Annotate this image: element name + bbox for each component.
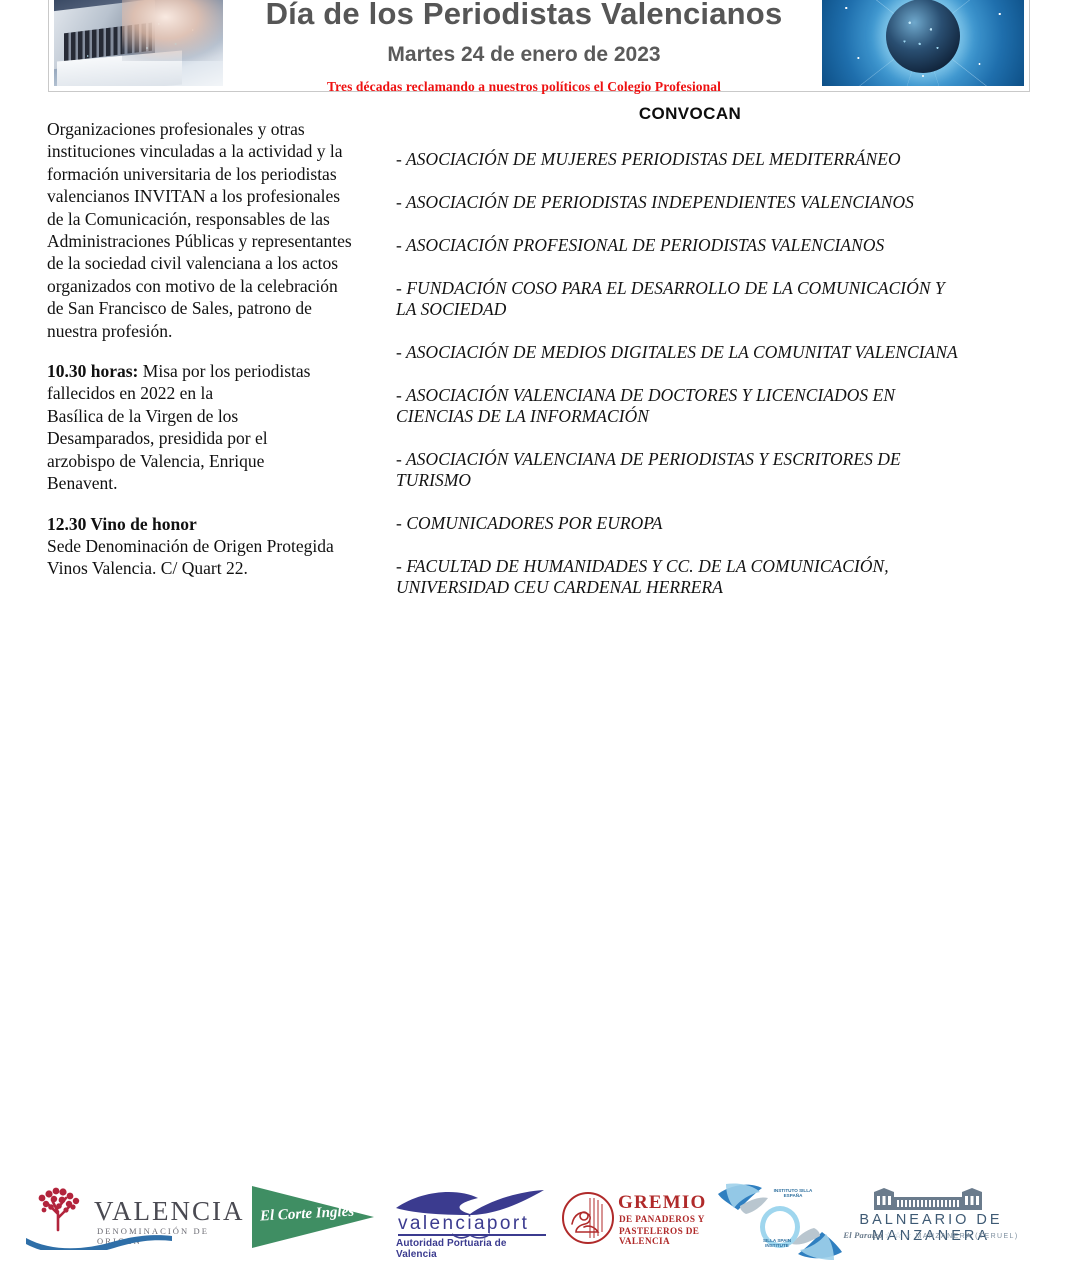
organization-line-2: CIENCIAS DE LA INFORMACIÓN [396,406,1028,427]
organization-line-2: TURISMO [396,470,1028,491]
organization-line-1: - ASOCIACIÓN PROFESIONAL DE PERIODISTAS … [396,235,884,255]
logo-gremio-subtitle-1: DE PANADEROS Y [619,1214,705,1224]
network-dots-overlay [54,0,223,86]
logo-gremio: GREMIO DE PANADEROS Y PASTELEROS DE VALE… [562,1190,724,1248]
organization-item: - ASOCIACIÓN VALENCIANA DE PERIODISTAS Y… [396,449,1028,491]
organization-line-1: - FACULTAD DE HUMANIDADES Y CC. DE LA CO… [396,556,889,576]
organization-line-1: - FUNDACIÓN COSO PARA EL DESARROLLO DE L… [396,278,945,298]
organization-item: - ASOCIACIÓN DE MEDIOS DIGITALES DE LA C… [396,342,1028,363]
event-mass-line2: Basílica de la Virgen de los [47,406,238,426]
event-wine-line2: Vinos Valencia. C/ Quart 22. [47,558,248,578]
baker-seal-icon [562,1192,614,1244]
logo-balneario-subtitle: El Paraíso ☆☆☆ MANZANERA (TERUEL) [812,1230,1050,1241]
globe-network-photo [822,0,1024,86]
organization-item: - COMUNICADORES POR EUROPA [396,513,1028,534]
logo-valenciaport-subtitle: Autoridad Portuaria de Valencia [396,1238,550,1260]
event-mass-line3: Desamparados, presidida por el [47,428,268,448]
spa-building-icon [874,1188,982,1210]
organization-line-1: - ASOCIACIÓN DE PERIODISTAS INDEPENDIENT… [396,192,914,212]
blue-wave-icon [24,1230,174,1250]
organization-line-1: - COMUNICADORES POR EUROPA [396,513,662,533]
organization-line-2: LA SOCIEDAD [396,299,1028,320]
logo-el-corte-ingles: El Corte Inglés [252,1186,374,1248]
organization-line-1: - ASOCIACIÓN DE MUJERES PERIODISTAS DEL … [396,149,901,169]
organization-line-1: - ASOCIACIÓN VALENCIANA DE DOCTORES Y LI… [396,385,895,405]
convocan-heading: CONVOCAN [380,104,1028,124]
sponsor-logo-strip: VALENCIA DENOMINACIÓN DE ORIGEN El Corte… [0,588,1080,675]
event-mass-time: 10.30 horas: [47,361,138,381]
organization-line-1: - ASOCIACIÓN DE MEDIOS DIGITALES DE LA C… [396,342,958,362]
logo-balneario-brand: El Paraíso [843,1230,882,1240]
logo-do-valencia-name: VALENCIA [94,1196,245,1227]
spacer [47,342,355,360]
organization-item: - ASOCIACIÓN DE MUJERES PERIODISTAS DEL … [396,149,1028,170]
event-wine-title: 12.30 Vino de honor [47,514,197,534]
event-date: Martes 24 de enero de 2023 [235,43,813,67]
logo-balneario-manzanera: BALNEARIO DE MANZANERA El Paraíso ☆☆☆ MA… [812,1188,1050,1246]
event-wine-line1: Sede Denominación de Origen Protegida [47,536,334,556]
journalist-photo [54,0,223,86]
organization-item: - ASOCIACIÓN DE PERIODISTAS INDEPENDIENT… [396,192,1028,213]
organization-item: - ASOCIACIÓN PROFESIONAL DE PERIODISTAS … [396,235,1028,256]
event-mass: 10.30 horas: Misa por los periodistas fa… [47,360,355,494]
header-text-block: Día de los Periodistas Valencianos Marte… [235,0,813,95]
header-slogan: Tres décadas reclamando a nuestros polít… [235,79,813,95]
organization-line-1: - ASOCIACIÓN VALENCIANA DE PERIODISTAS Y… [396,449,901,469]
logo-gremio-name: GREMIO [618,1192,706,1214]
organization-item: - FUNDACIÓN COSO PARA EL DESARROLLO DE L… [396,278,1028,320]
organization-item: - ASOCIACIÓN VALENCIANA DE DOCTORES Y LI… [396,385,1028,427]
event-mass-line4: arzobispo de Valencia, Enrique [47,451,264,471]
logo-do-valencia: VALENCIA DENOMINACIÓN DE ORIGEN [24,1184,238,1250]
logo-balneario-stars: ☆☆☆ [885,1230,914,1240]
grape-vine-tree-icon [28,1186,92,1232]
convocan-column: CONVOCAN - ASOCIACIÓN DE MUJERES PERIODI… [380,104,1028,620]
logo-instituto-name-top: INSTITUTO SILLA ESPAÑA [770,1188,816,1199]
page-title: Día de los Periodistas Valencianos [235,0,813,31]
logo-valenciaport: valenciaport Autoridad Portuaria de Vale… [392,1188,550,1250]
network-stars-overlay [822,0,1024,86]
event-wine: 12.30 Vino de honorSede Denominación de … [47,513,355,580]
logo-gremio-subtitle-2: PASTELEROS DE VALENCIA [619,1226,724,1246]
invitation-paragraph: Organizaciones profesionales y otras ins… [47,118,355,342]
logo-instituto-name-bottom: SILLA SPAIN INSTITUTE [754,1238,800,1249]
invitation-column: Organizaciones profesionales y otras ins… [47,118,355,580]
seagull-wings-icon [392,1188,550,1216]
spacer [47,495,355,513]
event-mass-line5: Benavent. [47,473,117,493]
header-banner: Día de los Periodistas Valencianos Marte… [48,0,1030,92]
logo-balneario-location: MANZANERA (TERUEL) [916,1233,1019,1240]
